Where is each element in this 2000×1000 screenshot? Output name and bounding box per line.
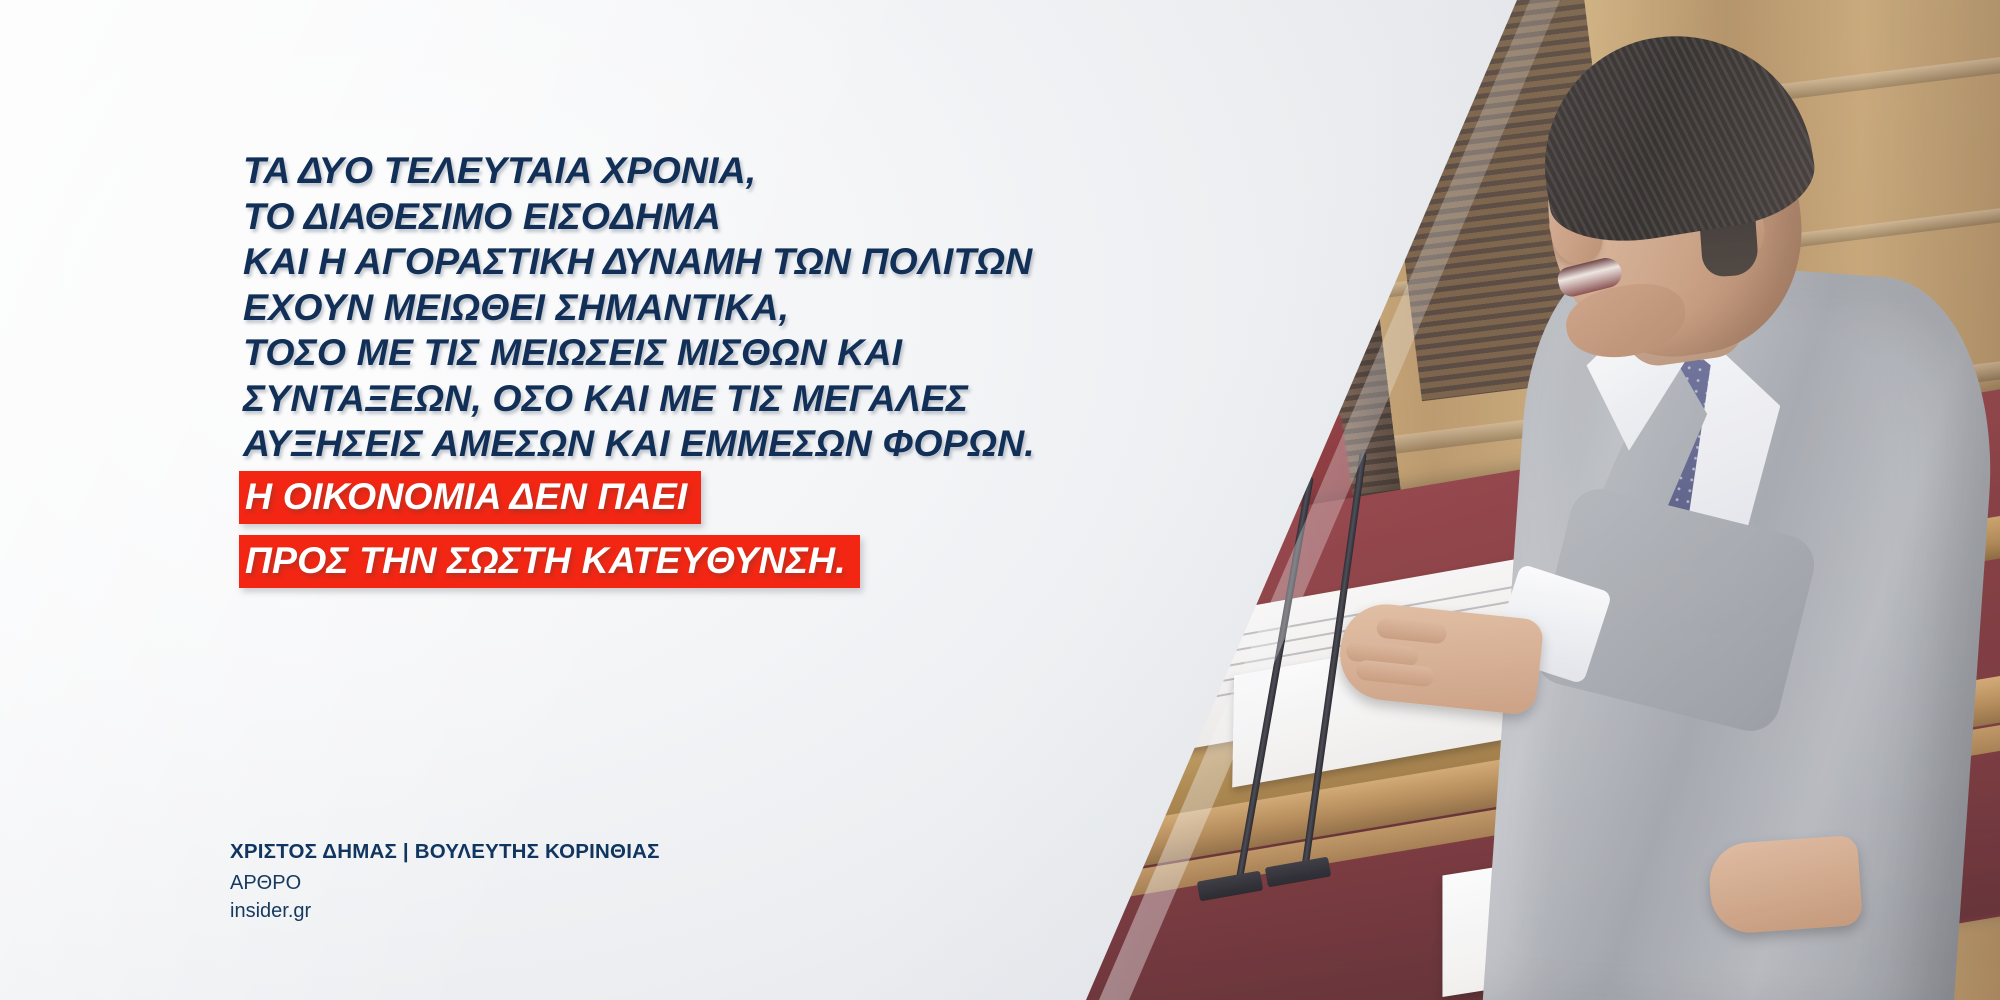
- attribution: ΧΡΙΣΤΟΣ ΔΗΜΑΣ | ΒΟΥΛΕΥΤΗΣ ΚΟΡΙΝΘΙΑΣ ΑΡΘΡ…: [230, 840, 660, 925]
- quote-line: ΤΟΣΟ ΜΕ ΤΙΣ ΜΕΙΩΣΕΙΣ ΜΙΣΘΩΝ ΚΑΙ: [243, 330, 1063, 376]
- quote-line: ΣΥΝΤΑΞΕΩΝ, ΟΣΟ ΚΑΙ ΜΕ ΤΙΣ ΜΕΓΑΛΕΣ: [243, 376, 1063, 422]
- quote-card: ΤΑ ΔΥΟ ΤΕΛΕΥΤΑΙΑ ΧΡΟΝΙΑ, ΤΟ ΔΙΑΘΕΣΙΜΟ ΕΙ…: [0, 0, 2000, 1000]
- quote-line-highlighted: Η ΟΙΚΟΝΟΜΙΑ ΔΕΝ ΠΑΕΙ: [239, 471, 701, 525]
- attribution-kind: ΑΡΘΡΟ: [230, 869, 660, 897]
- microphone-head-left: [1224, 435, 1249, 483]
- quote-line: ΑΥΞΗΣΕΙΣ ΑΜΕΣΩΝ ΚΑΙ ΕΜΜΕΣΩΝ ΦΟΡΩΝ.: [243, 421, 1063, 467]
- quote-line: ΤΑ ΔΥΟ ΤΕΛΕΥΤΑΙΑ ΧΡΟΝΙΑ,: [243, 148, 1063, 194]
- quote-line: ΤΟ ΔΙΑΘΕΣΙΜΟ ΕΙΣΟΔΗΜΑ: [243, 194, 1063, 240]
- quote-line: ΕΧΟΥΝ ΜΕΙΩΘΕΙ ΣΗΜΑΝΤΙΚΑ,: [243, 285, 1063, 331]
- quote-highlight-row: Η ΟΙΚΟΝΟΜΙΑ ΔΕΝ ΠΑΕΙ: [243, 467, 1063, 531]
- attribution-name: ΧΡΙΣΤΟΣ ΔΗΜΑΣ | ΒΟΥΛΕΥΤΗΣ ΚΟΡΙΝΘΙΑΣ: [230, 840, 660, 864]
- quote-block: ΤΑ ΔΥΟ ΤΕΛΕΥΤΑΙΑ ΧΡΟΝΙΑ, ΤΟ ΔΙΑΘΕΣΙΜΟ ΕΙ…: [243, 148, 1063, 595]
- attribution-source: insider.gr: [230, 897, 660, 925]
- microphone-head-right: [1291, 413, 1314, 461]
- quote-line-highlighted: ΠΡΟΣ ΤΗΝ ΣΩΣΤΗ ΚΑΤΕΥΘΥΝΣΗ.: [239, 535, 860, 589]
- quote-line: ΚΑΙ Η ΑΓΟΡΑΣΤΙΚΗ ΔΥΝΑΜΗ ΤΩΝ ΠΟΛΙΤΩΝ: [243, 239, 1063, 285]
- quote-highlight-row: ΠΡΟΣ ΤΗΝ ΣΩΣΤΗ ΚΑΤΕΥΘΥΝΣΗ.: [243, 531, 1063, 595]
